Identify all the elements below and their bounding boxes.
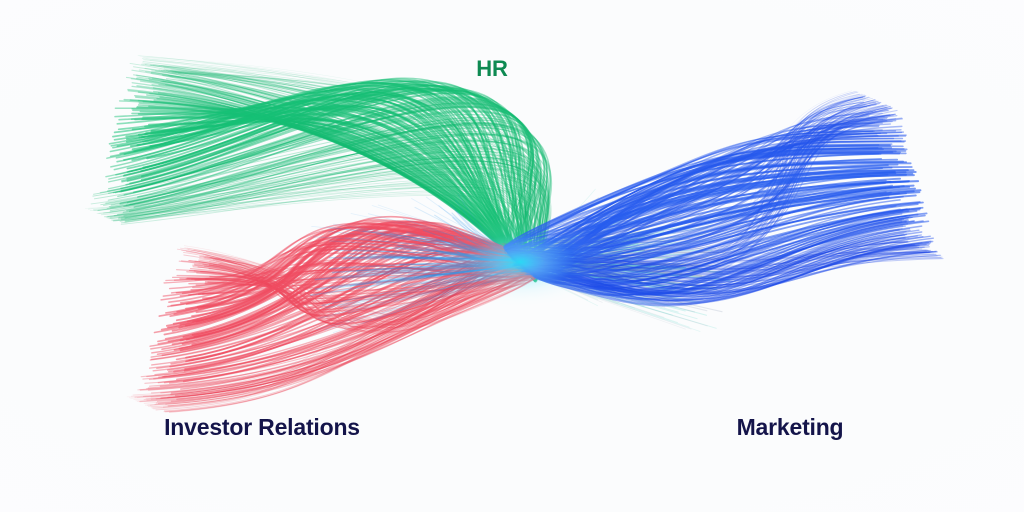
- node-label-marketing: Marketing: [737, 414, 844, 441]
- node-label-hr: HR: [476, 56, 507, 82]
- core-glow: [428, 216, 612, 308]
- node-label-investor-relations: Investor Relations: [164, 414, 360, 441]
- filament-network-svg: [0, 0, 1024, 512]
- artwork-canvas: HR Investor Relations Marketing: [0, 0, 1024, 512]
